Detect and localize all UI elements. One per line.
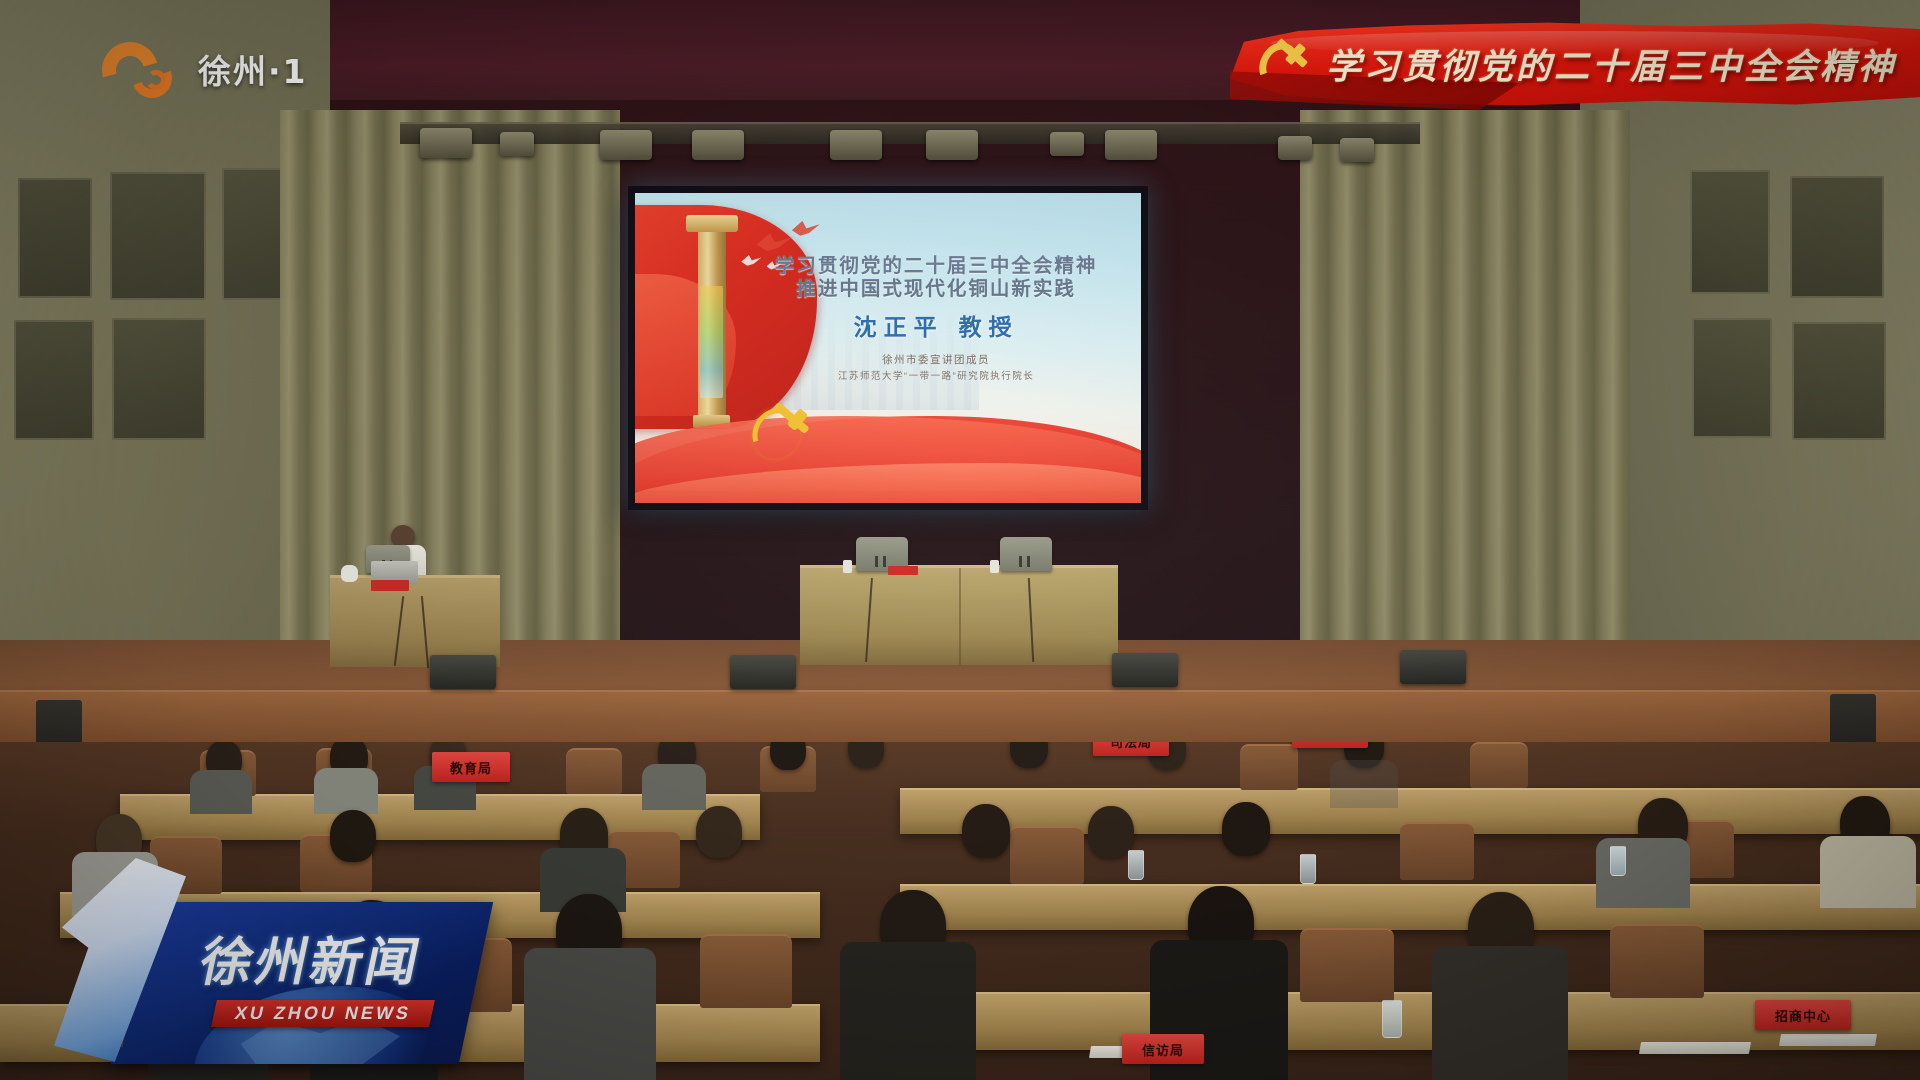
audience-torso: [840, 942, 976, 1080]
audience-head: [770, 742, 806, 770]
document-paper: [1639, 1042, 1751, 1054]
desk-name-card: [888, 566, 918, 575]
channel-name: 徐州·1: [198, 45, 308, 93]
stage-light: [1278, 136, 1312, 160]
slide-title-line2: 推进中国式现代化铜山新实践: [746, 278, 1126, 301]
audience-torso: [524, 948, 656, 1080]
audience-torso: [1820, 836, 1916, 908]
audience-seat: [1300, 928, 1394, 1002]
slide-text-block: 学习贯彻党的二十届三中全会精神 推进中国式现代化铜山新实践 沈正平 教授 徐州市…: [746, 255, 1126, 382]
stage-monitor-speaker: [430, 655, 496, 689]
audience-head: [848, 742, 884, 768]
program-title-cn: 徐州新闻: [154, 920, 470, 995]
dove-icon: [792, 221, 820, 237]
stage-light: [600, 130, 652, 160]
water-glass: [1128, 850, 1144, 880]
audience-seat: [1470, 742, 1528, 788]
slide-title-line1: 学习贯彻党的二十届三中全会精神: [746, 255, 1126, 278]
audience-torso: [190, 770, 252, 814]
party-emblem-icon: [751, 404, 822, 466]
audience-seat: [700, 934, 792, 1008]
stage-monitor-speaker: [730, 655, 796, 689]
audience-head: [1222, 802, 1270, 856]
lighting-truss: [400, 122, 1420, 144]
campaign-banner-text: 学习贯彻党的二十届三中全会精神: [1326, 39, 1896, 90]
stage-light: [926, 130, 978, 160]
dove-icon: [756, 233, 791, 252]
desk-name-card: 民政局: [1292, 742, 1368, 748]
audience-seat: [1240, 744, 1298, 790]
audience-head: [696, 806, 742, 858]
orange-swirl-logo-icon: [100, 36, 186, 102]
desk-name-card: 信访局: [1122, 1034, 1204, 1064]
head-table: [800, 565, 1118, 665]
speaker-desk: [330, 575, 500, 667]
party-emblem-icon: [1260, 38, 1314, 92]
audience-head: [962, 804, 1010, 858]
monument-gradient: [700, 286, 723, 398]
audience-torso: [642, 764, 706, 810]
audience-seat: [566, 748, 622, 794]
stage-light: [830, 130, 882, 160]
presentation-slide: 学习贯彻党的二十届三中全会精神 推进中国式现代化铜山新实践 沈正平 教授 徐州市…: [635, 193, 1141, 503]
document-paper: [1779, 1034, 1877, 1046]
stage-monitor-speaker: [1400, 650, 1466, 684]
slide-subtitle-line1: 徐州市委宣讲团成员: [746, 354, 1126, 366]
channel-logo: 徐州·1: [100, 34, 308, 104]
audience-torso: [314, 768, 378, 814]
water-glass: [1610, 846, 1626, 876]
audience-seat: [1610, 924, 1704, 998]
teapot: [341, 565, 358, 582]
stage-apron: [0, 690, 1920, 750]
audience-torso: [1432, 946, 1568, 1080]
broadcast-frame: 学习贯彻党的二十届三中全会精神 推进中国式现代化铜山新实践 沈正平 教授 徐州市…: [0, 0, 1920, 1080]
head-table-chair: [1000, 537, 1052, 571]
program-bug: 徐州新闻 XU ZHOU NEWS: [18, 850, 478, 1080]
stage-light: [1340, 138, 1374, 162]
audience-torso: [1330, 760, 1398, 808]
microphone: [990, 560, 999, 573]
water-glass: [1300, 854, 1316, 884]
desk-name-card: 司法局: [1093, 742, 1169, 756]
stage-light: [1105, 130, 1157, 160]
desk-name-card: 招商中心: [1755, 1000, 1851, 1030]
audience-seat: [1400, 822, 1474, 880]
water-glass: [1382, 1000, 1402, 1038]
desk-name-card: 教育局: [432, 752, 510, 782]
audience-seat: [1010, 826, 1084, 884]
program-title-en: XU ZHOU NEWS: [211, 1000, 435, 1027]
stage-curtain-right: [1300, 110, 1630, 670]
audience-head: [1088, 806, 1134, 858]
audience-head: [1010, 742, 1048, 768]
slide-presenter-name: 沈正平 教授: [746, 314, 1126, 341]
campaign-banner: 学习贯彻党的二十届三中全会精神: [1230, 18, 1920, 110]
desk-name-card: [371, 580, 409, 591]
microphone: [843, 560, 852, 573]
stage-light: [420, 128, 472, 158]
stage-monitor-speaker: [1112, 653, 1178, 687]
projection-screen: 学习贯彻党的二十届三中全会精神 推进中国式现代化铜山新实践 沈正平 教授 徐州市…: [628, 186, 1148, 510]
slide-subtitle-line2: 江苏师范大学“一带一路”研究院执行院长: [746, 371, 1126, 382]
stage-light: [1050, 132, 1084, 156]
stage-light: [692, 130, 744, 160]
stage-light: [500, 132, 534, 156]
audience-desk-row: [900, 884, 1920, 930]
